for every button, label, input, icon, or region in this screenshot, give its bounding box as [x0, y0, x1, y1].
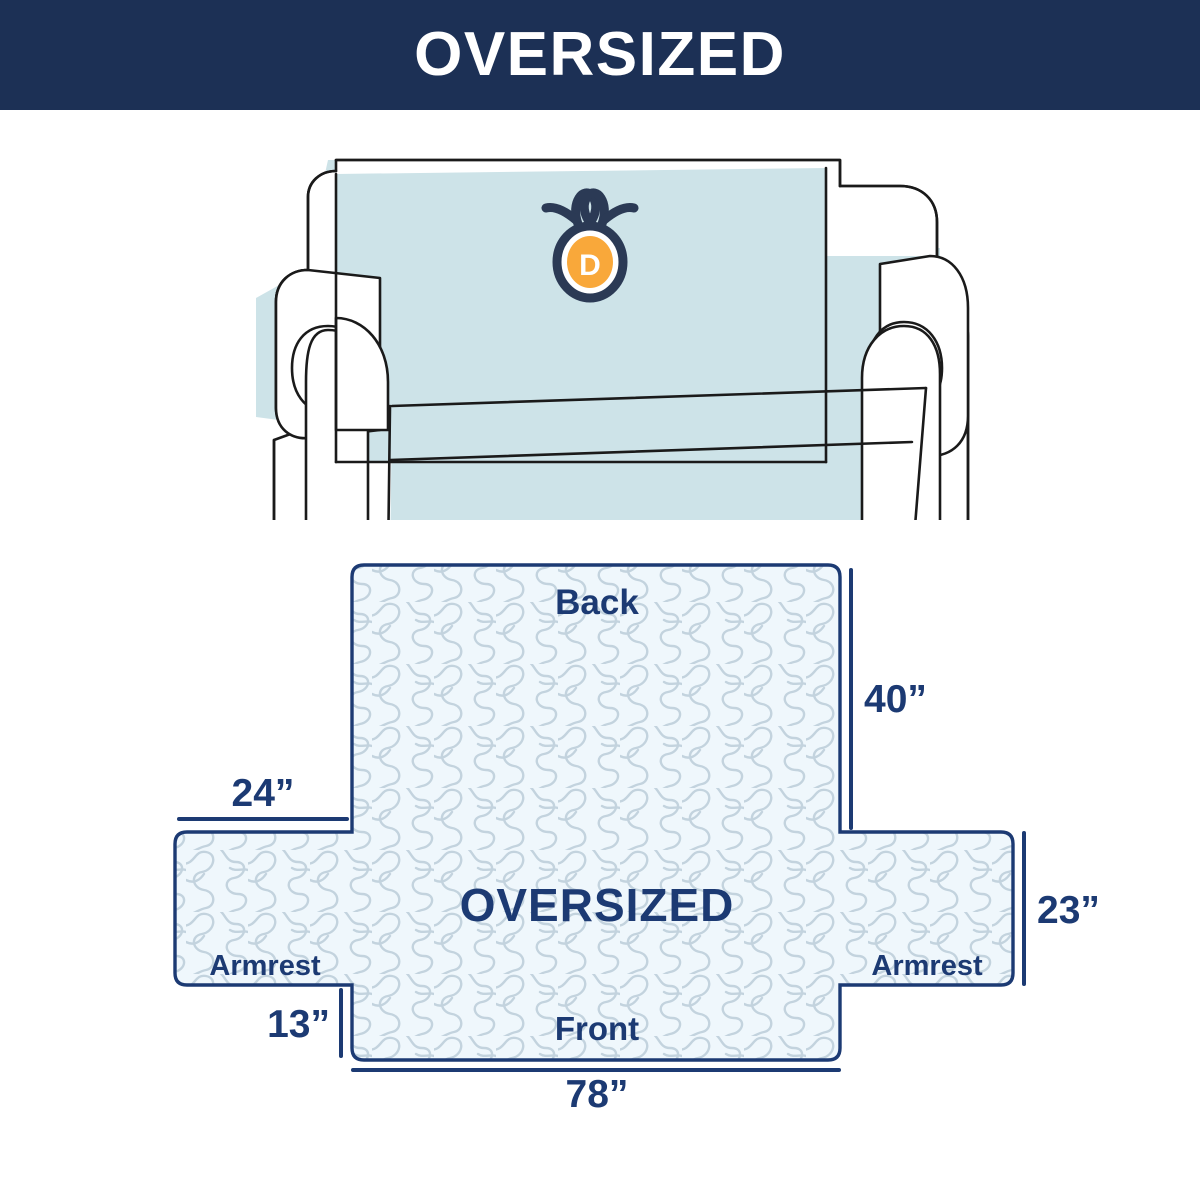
dimension-label-78: 78” [566, 1073, 629, 1116]
sofa-seat-strip [390, 388, 926, 520]
dimension-front-skirt: 13” [267, 990, 341, 1056]
dimension-label-40: 40” [864, 678, 927, 721]
center-size-label: OVERSIZED [460, 879, 735, 931]
panel-label-back: Back [555, 583, 639, 622]
dimension-label-24: 24” [232, 772, 295, 815]
product-size-chart-page: OVERSIZED [0, 0, 1200, 1200]
panel-label-front: Front [555, 1010, 639, 1047]
sofa-right-arm-front [862, 326, 940, 520]
page-title: OVERSIZED [414, 24, 786, 86]
badge-letter: D [579, 249, 601, 282]
quilt-texture [170, 560, 1020, 1065]
dimension-label-13: 13” [267, 1003, 330, 1046]
dimension-total-width: 78” [353, 1070, 839, 1116]
header-banner: OVERSIZED [0, 0, 1200, 110]
panel-label-armrest-right: Armrest [871, 950, 983, 982]
cover-flat-shape [170, 560, 1020, 1065]
dimension-armrest-depth: 23” [1024, 833, 1100, 984]
dimension-back-inset: 24” [179, 772, 347, 819]
sofa-illustration: D [240, 130, 980, 520]
dimension-label-23: 23” [1037, 889, 1100, 932]
panel-label-armrest-left: Armrest [209, 950, 321, 982]
dimension-back-height: 40” [851, 570, 927, 828]
flat-layout-dimension-diagram: Back OVERSIZED Armrest Armrest Front 40”… [0, 540, 1200, 1140]
